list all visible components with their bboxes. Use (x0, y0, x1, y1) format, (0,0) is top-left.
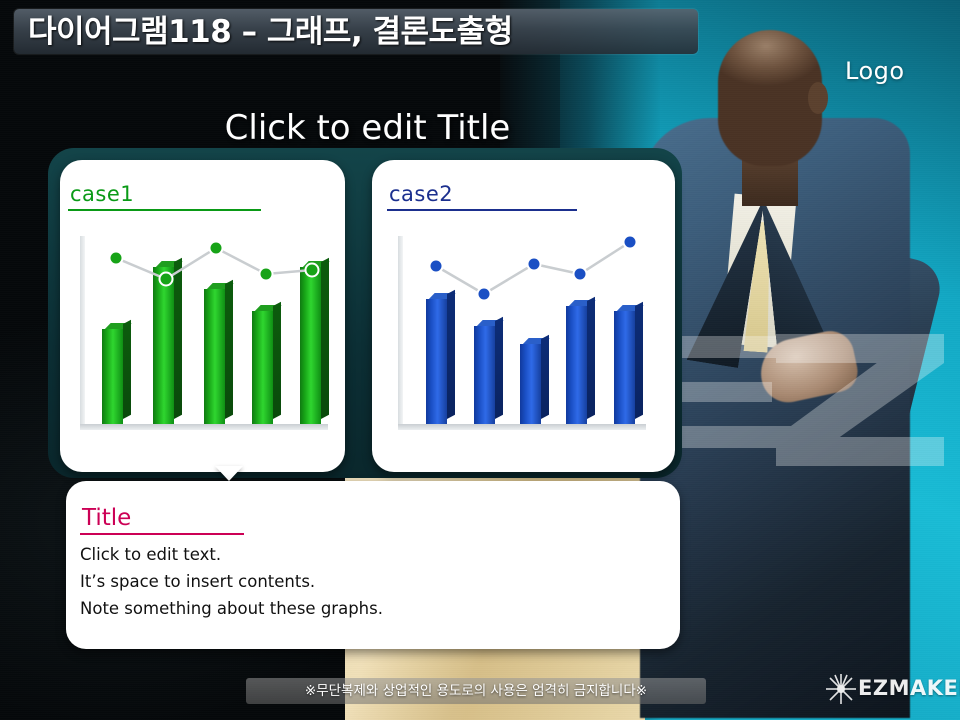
ezmaker-logo: EZMAKER (822, 672, 954, 706)
case1-label: case1 (70, 182, 134, 206)
note-underline (80, 533, 244, 535)
speaker-ear (808, 82, 828, 114)
header-banner-title: 다이어그램118 – 그래프, 결론도출형 (28, 11, 688, 53)
case1-underline (68, 209, 261, 211)
note-line[interactable]: Click to edit text. (80, 545, 221, 564)
footer-notice-text: ※무단복제와 상업적인 용도로의 사용은 엄격히 금지합니다※ (246, 678, 706, 704)
ezmaker-wordmark: EZMAKER (858, 676, 960, 700)
case1-trend-line (80, 232, 330, 454)
case1-chart (80, 232, 330, 454)
note-title: Title (82, 505, 131, 531)
note-callout-tail (215, 466, 243, 481)
case2-chart (398, 232, 648, 454)
case2-label: case2 (389, 182, 453, 206)
note-line[interactable]: Note something about these graphs. (80, 599, 383, 618)
slide-canvas: 다이어그램118 – 그래프, 결론도출형 Logo Click to edit… (0, 0, 960, 720)
logo-placeholder[interactable]: Logo (845, 57, 905, 85)
case2-trend-line (398, 232, 648, 454)
note-line[interactable]: It’s space to insert contents. (80, 572, 315, 591)
page-title[interactable]: Click to edit Title (0, 108, 735, 148)
case2-underline (387, 209, 577, 211)
note-card[interactable] (66, 481, 680, 649)
